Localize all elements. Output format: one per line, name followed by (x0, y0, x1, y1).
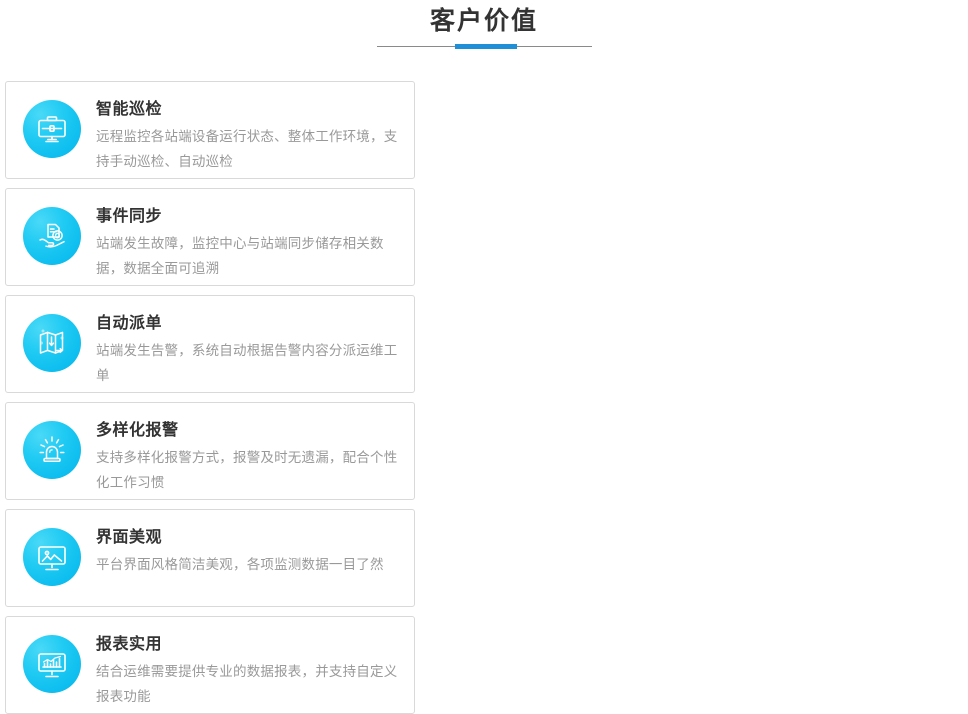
value-card[interactable]: 报表实用 结合运维需要提供专业的数据报表，并支持自定义报表功能 (5, 616, 415, 714)
alarm-siren-icon (23, 421, 81, 479)
card-description: 站端发生故障，监控中心与站端同步储存相关数据，数据全面可追溯 (96, 231, 400, 281)
card-text: 自动派单 站端发生告警，系统自动根据告警内容分派运维工单 (96, 312, 400, 388)
card-text: 界面美观 平台界面风格简洁美观，各项监测数据一目了然 (96, 526, 384, 577)
card-text: 多样化报警 支持多样化报警方式，报警及时无遗漏，配合个性化工作习惯 (96, 419, 400, 495)
value-card[interactable]: 事件同步 站端发生故障，监控中心与站端同步储存相关数据，数据全面可追溯 (5, 188, 415, 286)
card-description: 远程监控各站端设备运行状态、整体工作环境，支持手动巡检、自动巡检 (96, 124, 400, 174)
card-title: 自动派单 (96, 313, 400, 335)
value-card[interactable]: 自动派单 站端发生告警，系统自动根据告警内容分派运维工单 (5, 295, 415, 393)
value-card[interactable]: 多样化报警 支持多样化报警方式，报警及时无遗漏，配合个性化工作习惯 (5, 402, 415, 500)
card-title: 多样化报警 (96, 420, 400, 442)
map-dispatch-arrow-icon (23, 314, 81, 372)
card-description: 结合运维需要提供专业的数据报表，并支持自定义报表功能 (96, 659, 400, 709)
card-description: 站端发生告警，系统自动根据告警内容分派运维工单 (96, 338, 400, 388)
card-description: 平台界面风格简洁美观，各项监测数据一目了然 (96, 552, 384, 577)
card-title: 界面美观 (96, 527, 384, 549)
title-underline (377, 44, 592, 50)
title-underline-accent (455, 44, 517, 49)
section-header: 客户价值 (0, 0, 968, 50)
page-title: 客户价值 (0, 6, 968, 36)
value-card[interactable]: 智能巡检 远程监控各站端设备运行状态、整体工作环境，支持手动巡检、自动巡检 (5, 81, 415, 179)
monitor-image-icon (23, 528, 81, 586)
card-text: 智能巡检 远程监控各站端设备运行状态、整体工作环境，支持手动巡检、自动巡检 (96, 98, 400, 174)
monitor-inspection-icon (23, 100, 81, 158)
monitor-chart-report-icon (23, 635, 81, 693)
card-title: 事件同步 (96, 206, 400, 228)
card-title: 智能巡检 (96, 99, 400, 121)
card-text: 报表实用 结合运维需要提供专业的数据报表，并支持自定义报表功能 (96, 633, 400, 709)
card-description: 支持多样化报警方式，报警及时无遗漏，配合个性化工作习惯 (96, 445, 400, 495)
hand-document-sync-icon (23, 207, 81, 265)
value-card[interactable]: 界面美观 平台界面风格简洁美观，各项监测数据一目了然 (5, 509, 415, 607)
card-title: 报表实用 (96, 634, 400, 656)
value-cards-grid: 智能巡检 远程监控各站端设备运行状态、整体工作环境，支持手动巡检、自动巡检 事件… (5, 81, 963, 714)
card-text: 事件同步 站端发生故障，监控中心与站端同步储存相关数据，数据全面可追溯 (96, 205, 400, 281)
